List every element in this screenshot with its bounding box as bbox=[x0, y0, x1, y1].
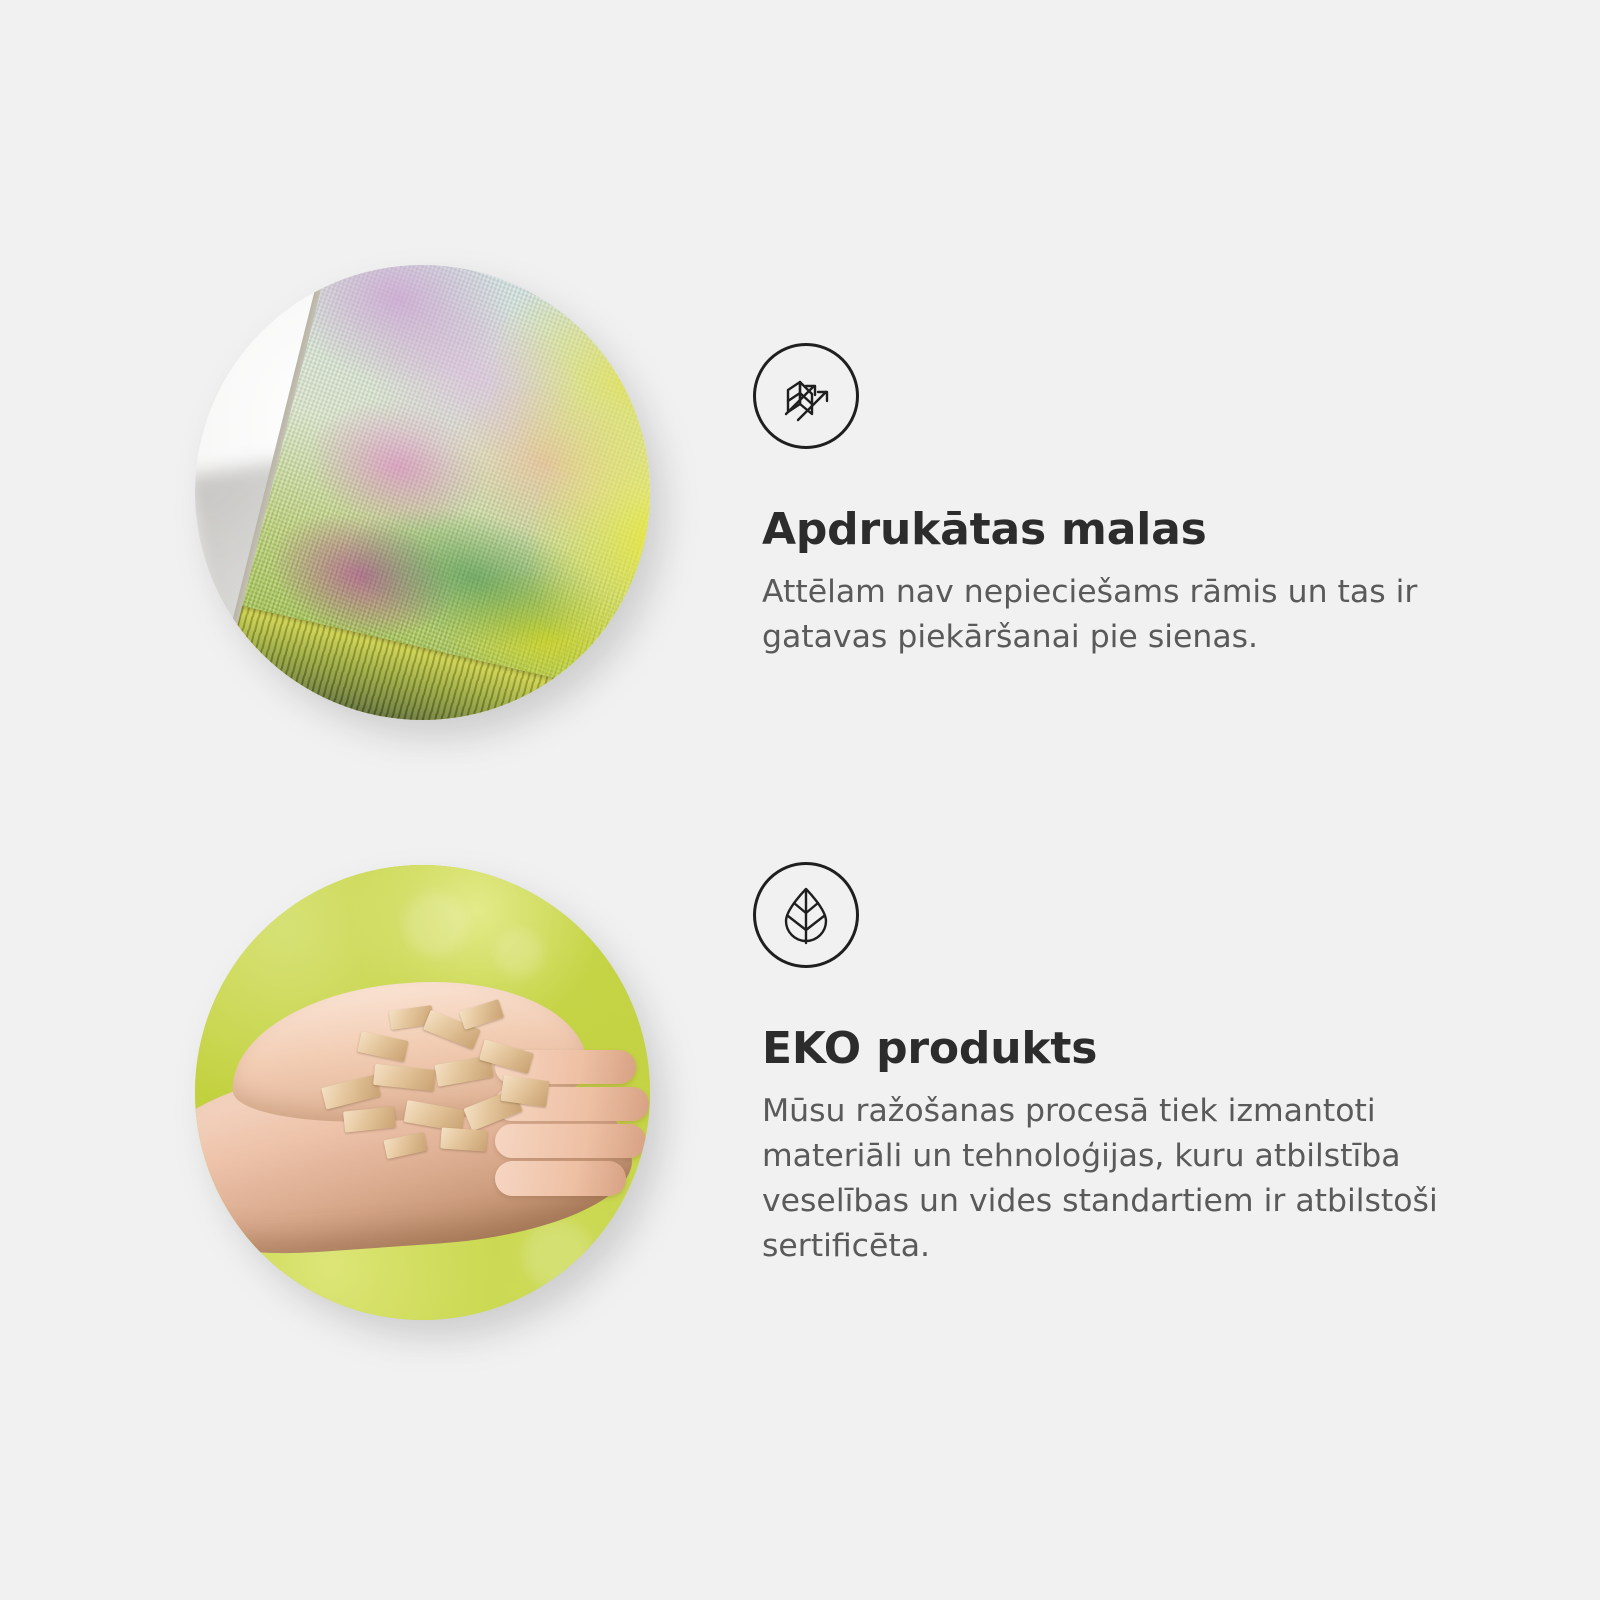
wood-chip bbox=[440, 1128, 487, 1152]
wood-chip bbox=[383, 1132, 427, 1159]
canvas-print-corner-photo bbox=[195, 265, 650, 720]
feature-description: Mūsu ražošanas procesā tiek izmantoti ma… bbox=[762, 1089, 1492, 1268]
wood-chip bbox=[500, 1074, 549, 1106]
wood-chip bbox=[322, 1075, 382, 1110]
feature-panel: Apdrukātas malas Attēlam nav nepieciešam… bbox=[0, 0, 1600, 1600]
page-title: Apdrukātas malas bbox=[762, 506, 1510, 554]
wood-chip bbox=[459, 999, 504, 1030]
bokeh-dot bbox=[495, 929, 543, 977]
feature-description: Attēlam nav nepieciešams rāmis un tas ir… bbox=[762, 570, 1492, 659]
wood-chips bbox=[313, 1002, 568, 1175]
leaf-icon bbox=[753, 862, 859, 968]
feature-text-eco-product: EKO produkts Mūsu ražošanas procesā tiek… bbox=[750, 862, 1510, 1268]
bokeh-dot bbox=[404, 892, 468, 956]
page-title: EKO produkts bbox=[762, 1025, 1510, 1073]
folded-canvas-edge-icon bbox=[753, 343, 859, 449]
hands-holding-wood-chips-photo bbox=[195, 865, 650, 1320]
wood-chip bbox=[358, 1031, 410, 1061]
wood-chip bbox=[374, 1064, 437, 1091]
feature-text-printed-edges: Apdrukātas malas Attēlam nav nepieciešam… bbox=[750, 343, 1510, 660]
wood-chip bbox=[343, 1106, 396, 1132]
canvas-photo-scene bbox=[195, 265, 650, 720]
bokeh-dot bbox=[523, 1220, 593, 1290]
eco-photo-scene bbox=[195, 865, 650, 1320]
